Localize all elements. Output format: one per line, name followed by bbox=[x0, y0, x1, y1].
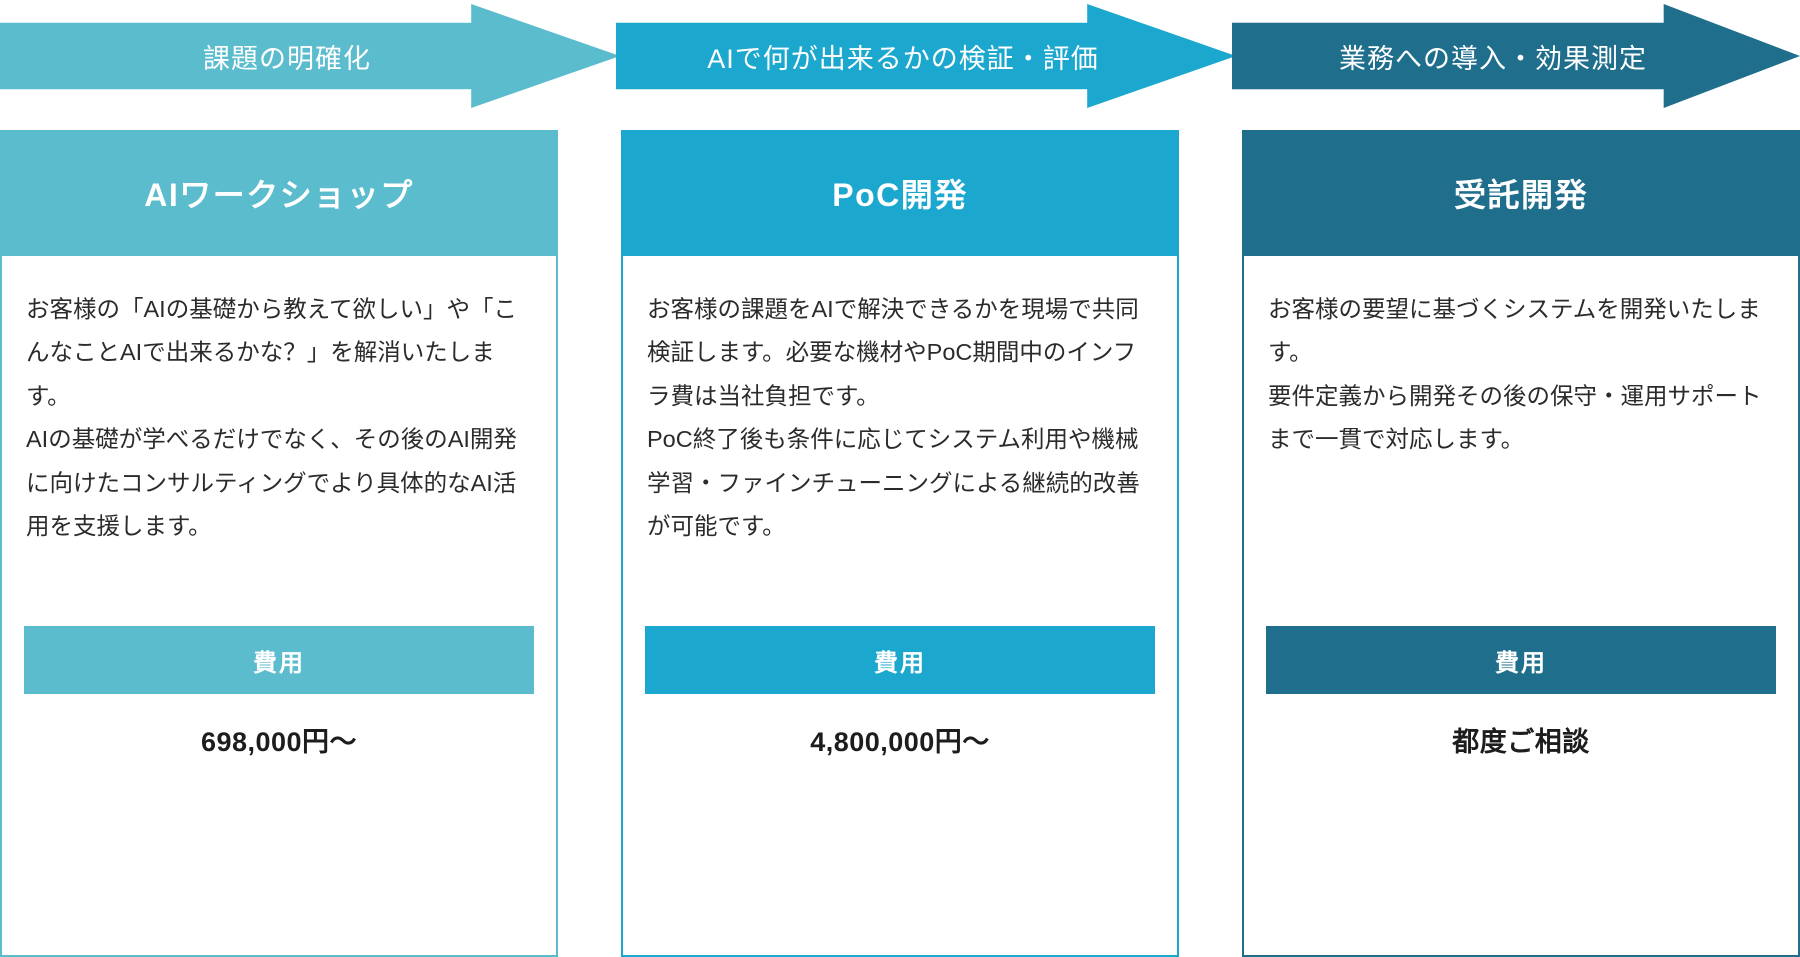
service-card-description: お客様の課題をAIで解決できるかを現場で共同検証します。必要な機材やPoC期間中… bbox=[623, 256, 1177, 638]
service-card-title: 受託開発 bbox=[1242, 130, 1800, 256]
price-value: 都度ご相談 bbox=[1244, 720, 1798, 759]
service-card-list: AIワークショップ お客様の「AIの基礎から教えて欲しい」や「こんなことAIで出… bbox=[0, 130, 1800, 957]
cost-label-bar: 費用 bbox=[1266, 626, 1776, 694]
price-value: 4,800,000円〜 bbox=[623, 720, 1177, 759]
service-card-ai-workshop: AIワークショップ お客様の「AIの基礎から教えて欲しい」や「こんなことAIで出… bbox=[0, 130, 558, 957]
process-step-3: 業務への導入・効果測定 bbox=[1232, 4, 1800, 108]
process-step-3-label: 業務への導入・効果測定 bbox=[1339, 37, 1693, 76]
service-card-description: お客様の「AIの基礎から教えて欲しい」や「こんなことAIで出来るかな？」を解消い… bbox=[2, 256, 556, 638]
cost-label-bar: 費用 bbox=[645, 626, 1155, 694]
process-step-2-label: AIで何が出来るかの検証・評価 bbox=[707, 37, 1145, 76]
process-step-1: 課題の明確化 bbox=[0, 4, 620, 108]
service-pricing-board: 課題の明確化 AIで何が出来るかの検証・評価 業務への導入・効果測定 AIワーク… bbox=[0, 0, 1800, 957]
service-card-description: お客様の要望に基づくシステムを開発いたします。要件定義から開発その後の保守・運用… bbox=[1244, 256, 1798, 638]
process-step-1-label: 課題の明確化 bbox=[203, 37, 417, 76]
price-value: 698,000円〜 bbox=[2, 720, 556, 759]
service-card-title: PoC開発 bbox=[621, 130, 1179, 256]
service-card-poc-development: PoC開発 お客様の課題をAIで解決できるかを現場で共同検証します。必要な機材や… bbox=[621, 130, 1179, 957]
service-card-title: AIワークショップ bbox=[0, 130, 558, 256]
service-card-description-text: お客様の課題をAIで解決できるかを現場で共同検証します。必要な機材やPoC期間中… bbox=[647, 288, 1153, 549]
service-card-contract-development: 受託開発 お客様の要望に基づくシステムを開発いたします。要件定義から開発その後の… bbox=[1242, 130, 1800, 957]
service-card-description-text: お客様の要望に基づくシステムを開発いたします。要件定義から開発その後の保守・運用… bbox=[1268, 288, 1774, 462]
process-step-2: AIで何が出来るかの検証・評価 bbox=[616, 4, 1236, 108]
cost-label-bar: 費用 bbox=[24, 626, 534, 694]
service-card-description-text: お客様の「AIの基礎から教えて欲しい」や「こんなことAIで出来るかな？」を解消い… bbox=[26, 288, 532, 549]
process-arrow-row: 課題の明確化 AIで何が出来るかの検証・評価 業務への導入・効果測定 bbox=[0, 0, 1800, 112]
